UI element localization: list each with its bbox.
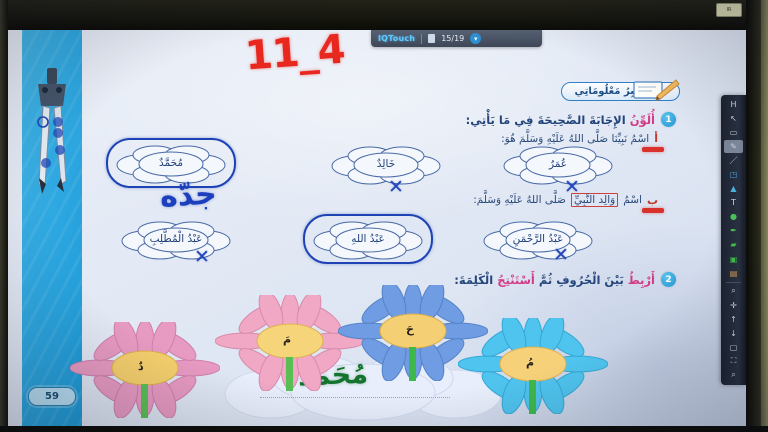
ir-sensor-label: IR [716,3,742,17]
highlighter-icon[interactable]: ／ [724,154,743,167]
zoom-icon[interactable]: ⌕ [724,285,743,298]
question-1-prompt: أُلَوِّنُ الإِجَابَةَ الصَّحِيحَةَ فِي م… [466,113,655,127]
compass-illustration [30,66,74,196]
page-number: 59 [28,387,76,406]
option-label: عَبْدُ الْمُطَّلِبِ [116,218,236,260]
page-indicator: 15/19 [441,34,464,43]
subquestion-b-text-before: اسْمُ [623,194,642,206]
image-icon[interactable]: ▤ [724,267,743,280]
flower-letter-dal: دٌ [138,360,144,373]
search-icon[interactable]: ⌕ [724,369,743,382]
tool-rail[interactable]: H ↖ ▭ ✎ ／ ◳ ▲ T ● ✒ ▰ ▣ ▤ ⌕ ✛ ↑ ↓ ▢ ⛶ ⌕ [721,95,746,385]
chevron-down-icon[interactable]: ▾ [470,33,481,44]
projected-page[interactable]: 59 أَخْتَبِرُ مَعْلُومَاتِي 1 أُلَوِّنُ … [8,30,746,426]
fullscreen-icon[interactable]: ⛶ [724,355,743,368]
app-toolbar[interactable]: IQTouch 15/19 ▾ [371,30,542,47]
hand-icon[interactable]: H [724,98,743,111]
question-1-row: 1 أُلَوِّنُ الإِجَابَةَ الصَّحِيحَةَ فِي… [466,112,676,127]
cursor-icon[interactable]: ↖ [724,112,743,125]
flower-letter-mim-fatha: مَ [283,333,291,346]
option-cloud-khalid[interactable]: خَالِدٌ [326,143,446,185]
handwritten-lesson-code: 11_4 [244,27,346,80]
option-cloud-muhammad[interactable]: مُحَمَّدٌ [111,142,231,184]
option-cloud-umar[interactable]: عُمَرُ [498,143,618,185]
display-bezel-left [0,0,8,432]
option-cloud-abdulmuttalib[interactable]: عَبْدُ الْمُطَّلِبِ [116,218,236,260]
red-marker-underline-b [642,208,664,213]
palette-green-icon[interactable]: ● [724,210,743,223]
option-label: عَبْدُ اللهِ [308,218,428,260]
option-cloud-abdulrahman[interactable]: عَبْدُ الرَّحْمَنِ [478,218,598,260]
pen-icon[interactable]: ✎ [724,140,743,153]
pencil-paper-icon [632,78,680,102]
question-1-badge: 1 [661,112,676,127]
flower-letter-mim-damma: مُ [526,356,534,369]
move-icon[interactable]: ✛ [724,299,743,312]
rail-divider [726,282,741,283]
trash-icon[interactable]: ▢ [724,341,743,354]
option-label: عَبْدُ الرَّحْمَنِ [478,218,598,260]
display-bezel-bottom [0,426,768,432]
interactive-whiteboard-screen: 59 أَخْتَبِرُ مَعْلُومَاتِي 1 أُلَوِّنُ … [0,0,768,432]
option-cloud-abdullah[interactable]: عَبْدُ اللهِ [308,218,428,260]
app-brand-label: IQTouch [378,34,415,43]
down-arrow-icon[interactable]: ↓ [724,327,743,340]
flower-dal[interactable] [70,322,220,418]
flower-letter-ha: حَ [406,323,414,336]
option-label: مُحَمَّدٌ [111,142,231,184]
answer-writing-line [260,397,450,398]
subquestion-b-text-after: صَلَّى اللهُ عَلَيْهِ وَسَلَّمَ: [473,194,566,206]
subquestion-a-letter: أ [654,132,658,145]
brush-icon[interactable]: ✒ [724,224,743,237]
marker-green-icon[interactable]: ▰ [724,238,743,251]
section-banner: أَخْتَبِرُ مَعْلُومَاتِي [512,80,680,102]
red-marker-underline-a [642,147,664,152]
display-bezel-top [0,0,768,30]
document-icon[interactable] [428,34,435,43]
option-label: عُمَرُ [498,143,618,185]
keyboard-icon[interactable]: ▭ [724,126,743,139]
subquestion-b-letter: ب [647,194,658,207]
text-icon[interactable]: T [724,196,743,209]
stamp-icon[interactable]: ▣ [724,253,743,266]
up-arrow-icon[interactable]: ↑ [724,313,743,326]
display-bezel-right-edge [761,0,768,432]
option-label: خَالِدٌ [326,143,446,185]
question-2-badge: 2 [661,272,676,287]
shapes-icon[interactable]: ▲ [724,182,743,195]
toolbar-divider [421,34,422,44]
eraser-icon[interactable]: ◳ [724,168,743,181]
